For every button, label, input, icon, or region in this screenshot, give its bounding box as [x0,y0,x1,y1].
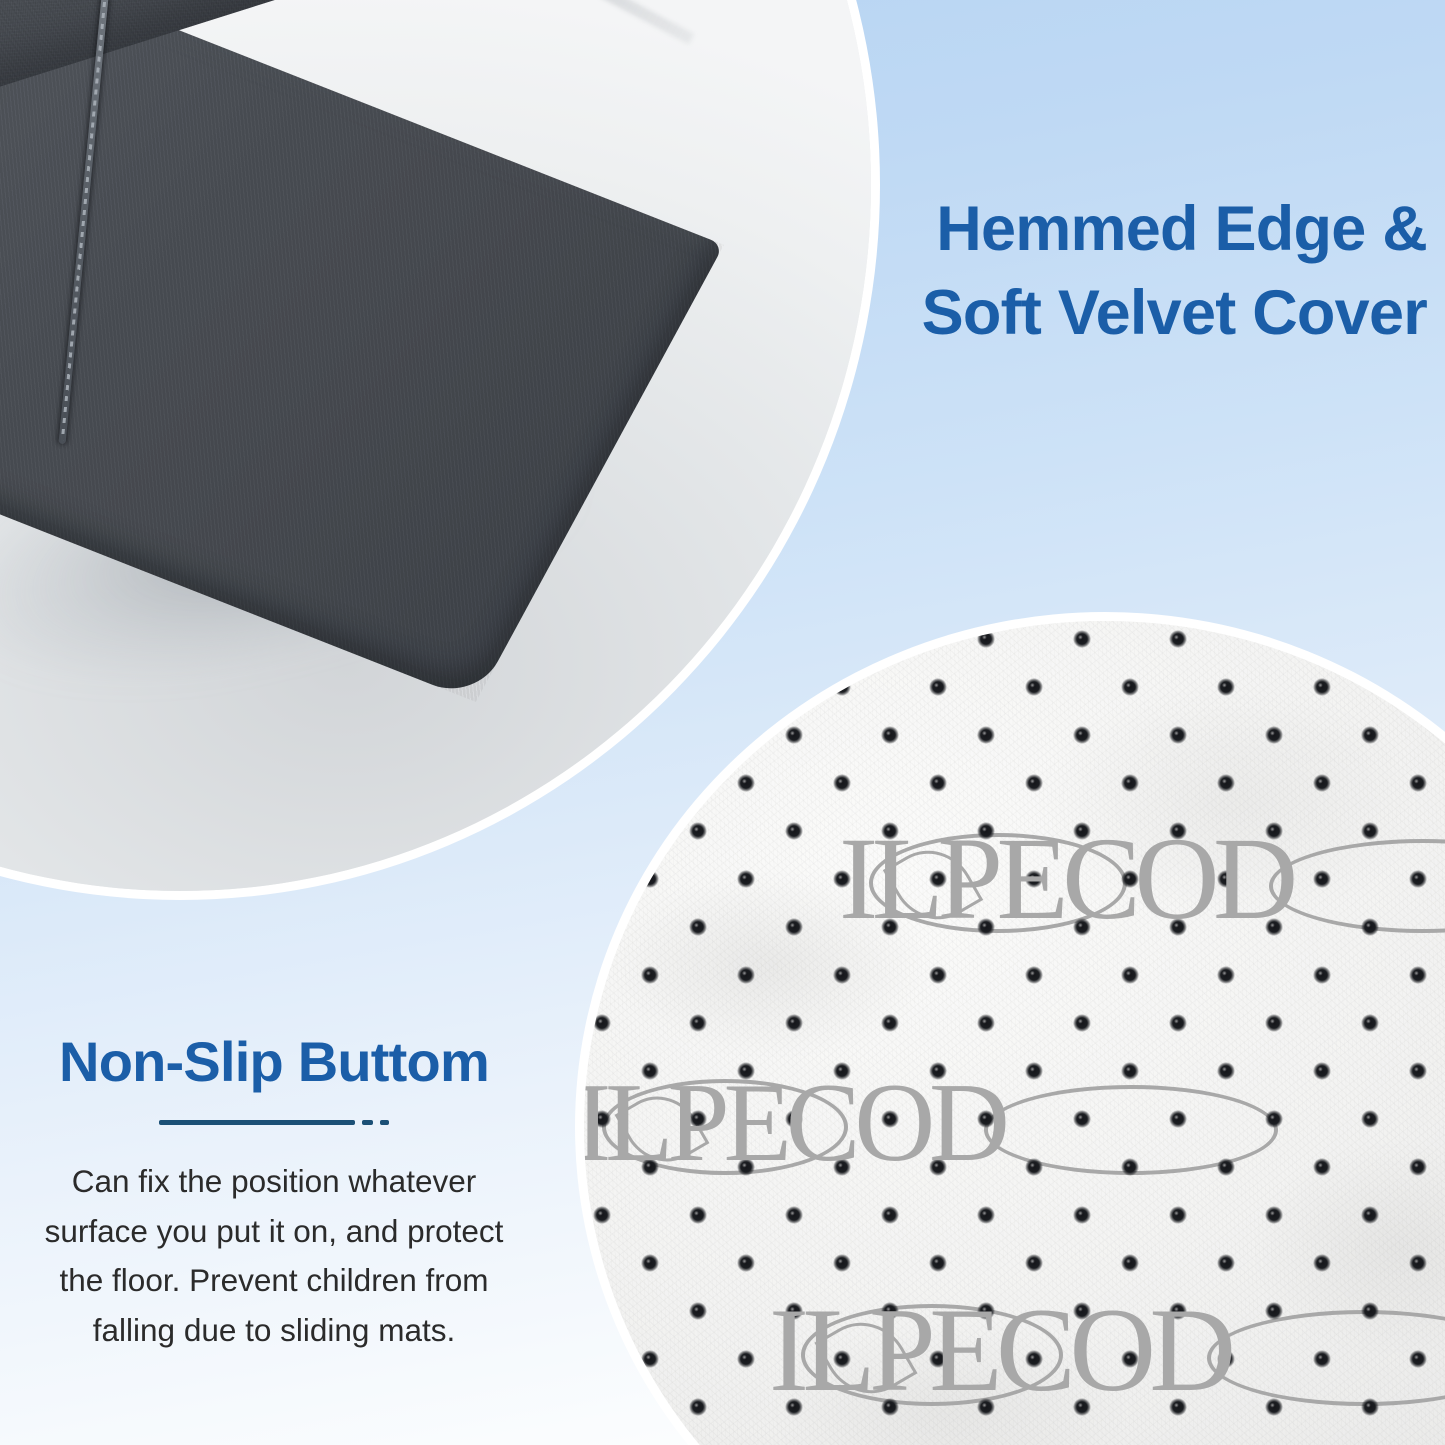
feature-title: Non-Slip Buttom [0,1030,548,1094]
brand-watermark: ILPECOD [839,811,1292,947]
headline-line-2: Soft Velvet Cover [707,272,1427,356]
divider-bar [159,1120,355,1125]
product-feature-graphic: ILPECOD ILPECOD ILPECOD Hemmed Edge & So… [0,0,1445,1445]
divider-dash [380,1120,389,1125]
brand-watermark: ILPECOD [769,1281,1229,1419]
feature-body-text: Can fix the position whatever surface yo… [24,1157,524,1355]
non-slip-mat-photo-panel: ILPECOD ILPECOD ILPECOD [575,612,1445,1445]
headline: Hemmed Edge & Soft Velvet Cover [707,188,1427,356]
brand-watermark: ILPECOD [575,1059,1004,1188]
title-divider [0,1120,548,1125]
divider-dash [362,1120,373,1125]
headline-line-1: Hemmed Edge & [707,188,1427,272]
feature-block: Non-Slip Buttom Can fix the position wha… [0,1030,548,1355]
